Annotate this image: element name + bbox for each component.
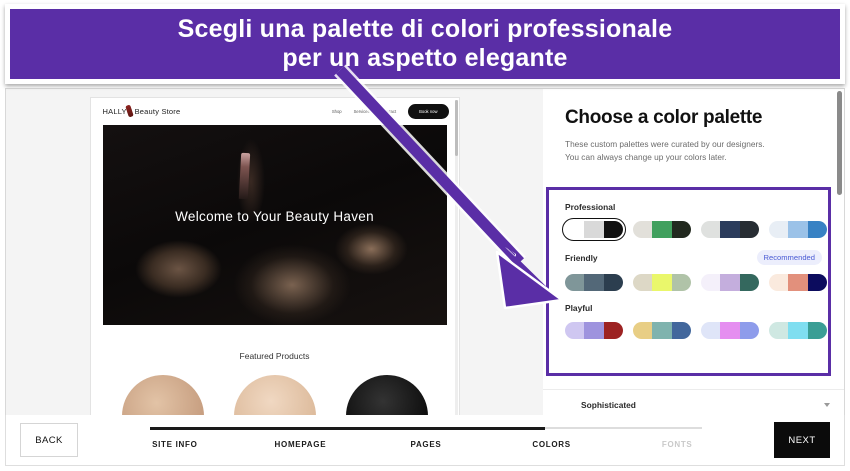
palette-swatch[interactable]: [633, 221, 691, 238]
palette-swatch[interactable]: [633, 322, 691, 339]
site-nav-item-services[interactable]: Services: [354, 109, 370, 114]
palette-group-playful: Playful: [549, 291, 828, 339]
step-site-info[interactable]: SITE INFO: [112, 440, 238, 449]
site-brand: HALLYU Beauty Store: [103, 107, 181, 116]
app-window: HALLYU Beauty Store Shop Services Contac…: [5, 88, 845, 466]
page-title: Choose a color palette: [565, 107, 844, 129]
group-header: Playful: [565, 303, 828, 313]
swatch-row-playful: [565, 322, 828, 339]
panel-scrollbar-thumb[interactable]: [837, 91, 842, 195]
banner-line-1: Scegli una palette di colori professiona…: [178, 15, 673, 44]
banner-line-2: per un aspetto elegante: [282, 44, 567, 73]
site-nav: Shop Services Contact Book now: [332, 104, 449, 119]
panel-description-line-2: You can always change up your colors lat…: [565, 151, 844, 164]
palette-swatch[interactable]: [701, 274, 759, 291]
swatch-row-friendly: [565, 274, 828, 291]
palette-swatch[interactable]: [701, 322, 759, 339]
site-nav-item-contact[interactable]: Contact: [382, 109, 396, 114]
screenshot-root: Scegli una palette di colori professiona…: [0, 0, 850, 471]
wizard-steps: SITE INFO HOMEPAGE PAGES COLORS FONTS: [112, 440, 740, 449]
site-header: HALLYU Beauty Store Shop Services Contac…: [91, 98, 459, 125]
palette-group-sophisticated[interactable]: Sophisticated: [543, 389, 844, 410]
annotation-banner: Scegli una palette di colori professiona…: [5, 4, 845, 84]
featured-products-title: Featured Products: [91, 351, 459, 361]
back-button[interactable]: BACK: [20, 423, 78, 457]
wizard-footer: BACK SITE INFO HOMEPAGE PAGES COLORS FON…: [5, 415, 845, 466]
preview-scrollbar-thumb[interactable]: [455, 100, 458, 156]
group-label-friendly: Friendly: [565, 253, 598, 263]
group-label-playful: Playful: [565, 303, 592, 313]
site-preview-area: HALLYU Beauty Store Shop Services Contac…: [6, 89, 543, 465]
progress-fill: [150, 427, 546, 430]
group-header: Professional: [565, 202, 828, 212]
group-label-professional: Professional: [565, 202, 615, 212]
palette-swatch[interactable]: [701, 221, 759, 238]
step-homepage[interactable]: HOMEPAGE: [238, 440, 364, 449]
step-fonts[interactable]: FONTS: [614, 440, 740, 449]
recommended-badge: Recommended: [757, 250, 823, 265]
palette-highlight-box: Professional: [546, 187, 831, 376]
palette-swatch[interactable]: [769, 274, 827, 291]
palette-group-friendly: Friendly Recommended: [549, 238, 828, 291]
panel-description-line-1: These custom palettes were curated by ou…: [565, 138, 844, 151]
palette-swatch[interactable]: [769, 221, 827, 238]
hero-title: Welcome to Your Beauty Haven: [103, 209, 447, 224]
swatch-row-professional: [565, 221, 828, 238]
chevron-down-icon[interactable]: [824, 403, 830, 407]
wizard-progress: SITE INFO HOMEPAGE PAGES COLORS FONTS: [112, 423, 740, 457]
palette-swatch[interactable]: [565, 221, 623, 238]
next-button[interactable]: NEXT: [774, 422, 830, 458]
palette-swatch[interactable]: [565, 322, 623, 339]
panel-description: These custom palettes were curated by ou…: [565, 138, 844, 164]
site-nav-item-shop[interactable]: Shop: [332, 109, 342, 114]
step-colors[interactable]: COLORS: [489, 440, 615, 449]
color-palette-panel: Choose a color palette These custom pale…: [543, 89, 844, 465]
group-header: Friendly Recommended: [565, 250, 828, 265]
book-now-button[interactable]: Book now: [408, 104, 448, 119]
palette-swatch[interactable]: [565, 274, 623, 291]
hero-section: Welcome to Your Beauty Haven: [103, 125, 447, 325]
palette-swatch[interactable]: [633, 274, 691, 291]
step-pages[interactable]: PAGES: [363, 440, 489, 449]
group-label-sophisticated: Sophisticated: [581, 400, 636, 410]
site-preview-frame[interactable]: HALLYU Beauty Store Shop Services Contac…: [90, 97, 460, 465]
lipstick-decoration: [239, 153, 250, 199]
palette-group-professional: Professional: [549, 190, 828, 238]
palette-swatch[interactable]: [769, 322, 827, 339]
